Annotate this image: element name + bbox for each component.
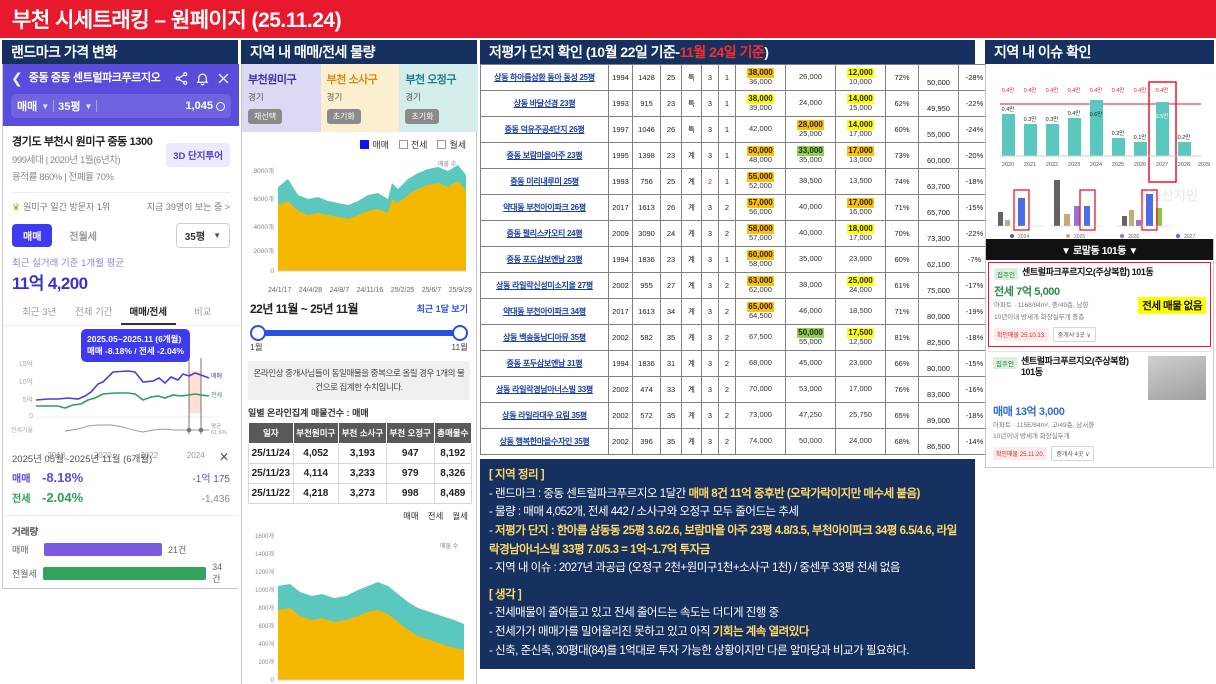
listing-name: 센트럴파크푸르지오(주상복합) 101동 xyxy=(1021,356,1139,379)
cell-year: 1993 xyxy=(609,169,633,195)
summary-buy-key: 매매 xyxy=(12,470,42,485)
cell-date: 25/11/22 xyxy=(249,484,294,504)
filter-size[interactable]: 35평 ▼ xyxy=(58,98,92,114)
svg-text:800개: 800개 xyxy=(258,604,274,612)
volume-bar xyxy=(43,567,206,580)
cell-type: 계 xyxy=(682,377,702,403)
svg-text:400개: 400개 xyxy=(258,640,274,648)
cell-c2: 1 xyxy=(719,91,736,117)
cell-type: 특 xyxy=(682,91,702,117)
svg-text:0: 0 xyxy=(29,413,33,420)
cell-price: 18,00017,000 xyxy=(836,221,886,247)
no-jeonse-overlay: 전세 매물 없음 xyxy=(1138,297,1206,314)
volume-value: 21건 xyxy=(168,543,186,556)
cell-sosa: 3,193 xyxy=(339,444,387,464)
cell-price: 50,000 xyxy=(786,429,836,455)
summary-jeonse-key: 전세 xyxy=(12,490,42,505)
svg-text:0.4만: 0.4만 xyxy=(1046,86,1059,94)
cell-units: 1836 xyxy=(633,351,661,377)
volume-label: 매매 xyxy=(12,543,38,556)
cell-price: 35,000 xyxy=(786,247,836,273)
cell-type: 계 xyxy=(682,429,702,455)
cell-year: 1994 xyxy=(609,65,633,91)
cell-complex-name[interactable]: 중동 미리내루미 25평 xyxy=(481,169,609,195)
summary-line-cheap: - 저평가 단지 : 한아름 삼동동 25평 3.6/2.6, 보람마을 아주 … xyxy=(489,522,966,559)
table-row: 상동 하아름삼환 동아 동성 25평1994142825특3138,00036,… xyxy=(481,65,991,91)
share-icon[interactable] xyxy=(174,71,189,86)
volume-area-chart-1: 8000개 6000개 4000개 2000개 0 매물 수 xyxy=(242,153,478,281)
svg-text:8000개: 8000개 xyxy=(254,166,274,175)
rank-label: 원미구 일간 방문자 1위 xyxy=(23,202,110,212)
cell-c1: 3 xyxy=(702,247,719,273)
cell-total: 8,489 xyxy=(434,484,471,504)
cell-price: 73,000 xyxy=(736,403,786,429)
svg-text:2024: 2024 xyxy=(1018,234,1029,240)
volume-row-buy: 매매 21건 xyxy=(3,540,239,559)
th-ojeong: 부천 오정구 xyxy=(386,423,434,444)
cell-rate: 60% xyxy=(886,247,919,273)
close-icon[interactable] xyxy=(216,71,231,86)
cell-price: 18,500 xyxy=(836,299,886,325)
gu-name: 부천 소사구 xyxy=(327,71,394,87)
cell-type: 계 xyxy=(682,221,702,247)
listing-thumbnail[interactable] xyxy=(1148,356,1206,400)
segment-buy[interactable]: 매매 xyxy=(12,224,52,247)
cell-c2: 2 xyxy=(719,429,736,455)
cell-total: 8,192 xyxy=(434,444,471,464)
viewers-label[interactable]: 지금 39명이 보는 중 > xyxy=(147,200,230,213)
cell-units: 572 xyxy=(633,403,661,429)
volume-label: 전월세 xyxy=(12,567,37,580)
table-row: 약대동 부천아이파크 26평2017161326계3257,00056,0004… xyxy=(481,195,991,221)
cell-c2: 1 xyxy=(719,117,736,143)
cell-price: 26,000 xyxy=(786,65,836,91)
cell-price: 60,00058,000 xyxy=(736,247,786,273)
cell-c1: 3 xyxy=(702,117,719,143)
cell-c1: 3 xyxy=(702,221,719,247)
landmark-app-card: ❮ 중동 중동 센트럴파크푸르지오 xyxy=(3,64,239,588)
cell-price: 12,00010,000 xyxy=(836,65,886,91)
cell-c2: 1 xyxy=(719,247,736,273)
cell-date: 25/11/24 xyxy=(249,444,294,464)
table-row: 상동 라일라대우 요림 35평200257235계3273,00047,2502… xyxy=(481,403,991,429)
cell-pyeong: 35 xyxy=(661,325,682,351)
cell-year: 2002 xyxy=(609,403,633,429)
listing-meta-2: 10년이내 방세개 화장실두개 xyxy=(993,432,1206,442)
legend-item-wolse[interactable]: 월세 xyxy=(437,138,466,151)
panel-volume-title: 지역 내 매매/전세 물량 xyxy=(241,40,477,64)
thought-line-3: - 신축, 준신축, 30평대(84)를 1억대로 투자 가능한 상황이지만 다… xyxy=(489,642,966,661)
svg-text:2028: 2028 xyxy=(1178,162,1190,168)
cell-rate: 73% xyxy=(886,143,919,169)
slider-knob-left[interactable] xyxy=(250,325,266,341)
cell-pyeong: 33 xyxy=(661,377,682,403)
legend-item-buy[interactable]: 매매 xyxy=(403,510,419,522)
cell-pyeong: 34 xyxy=(661,299,682,325)
volume-note: 온라인상 중개사님들이 동일매물을 중복으로 올릴 경우 1개의 물건으로 집계… xyxy=(248,361,470,400)
cell-year: 1994 xyxy=(609,351,633,377)
svg-text:1600개: 1600개 xyxy=(255,532,274,540)
cell-ojeong: 979 xyxy=(386,464,434,484)
cell-year: 2009 xyxy=(609,221,633,247)
cell-complex-name[interactable]: 상동 바달선경 23평 xyxy=(481,91,609,117)
cell-complex-name[interactable]: 중동 덕유주공4단지 26평 xyxy=(481,117,609,143)
cell-type: 계 xyxy=(682,273,702,299)
cell-price: 38,500 xyxy=(786,169,836,195)
cell-type: 계 xyxy=(682,325,702,351)
chart-tooltip: 2025.05~2025.11 (6개월) 매매 -8.18% / 전세 -2.… xyxy=(81,329,190,362)
cell-price: 28,00025,000 xyxy=(786,117,836,143)
3d-tour-button[interactable]: 3D 단지투어 xyxy=(166,143,230,167)
tab-compare[interactable]: 비교 xyxy=(176,299,231,325)
svg-text:2029: 2029 xyxy=(1198,162,1210,168)
cell-complex-name[interactable]: 약대동 부천아이파크 26평 xyxy=(481,195,609,221)
cell-year: 2017 xyxy=(609,195,633,221)
svg-text:0: 0 xyxy=(270,268,274,275)
cell-price: 40,000 xyxy=(786,221,836,247)
cell-type: 계 xyxy=(682,143,702,169)
cell-price: 14,00017,000 xyxy=(836,117,886,143)
cell-price: 38,000 xyxy=(786,273,836,299)
cell-price: 68,000 xyxy=(736,351,786,377)
summary-jeonse-amount: -1,436 xyxy=(202,494,230,505)
gu-name: 부천 오정구 xyxy=(405,71,472,87)
recent-month-link[interactable]: 최근 1달 보기 xyxy=(417,302,468,315)
cell-complex-name[interactable]: 상동 백송동남디아뮤 35평 xyxy=(481,325,609,351)
thought-line-2: - 전세가가 매매가를 밀어올리진 못하고 있고 아직 기회는 계속 열려있다 xyxy=(489,623,966,642)
cell-price: 70,000 xyxy=(736,377,786,403)
gu-tag-button[interactable]: 재선택 xyxy=(248,109,282,124)
cell-complex-name[interactable]: 상동 라일락신성미소지올 27평 xyxy=(481,273,609,299)
period-summary: 2025년 05월~2025년 11월 (6개월) ✕ 매매 -8.18% -1… xyxy=(3,444,239,509)
table-row: 상동 백송동남디아뮤 35평200258235계3267,50050,00055… xyxy=(481,325,991,351)
size-select[interactable]: 35평 ▼ xyxy=(176,223,230,248)
cell-units: 1428 xyxy=(633,65,661,91)
svg-text:2026: 2026 xyxy=(1128,234,1139,240)
owner-badge: 집주인 xyxy=(994,268,1018,280)
cell-price: 38,00039,000 xyxy=(736,91,786,117)
table-row: 중동 덕유주공4단지 26평1997104626특3142,00028,0002… xyxy=(481,117,991,143)
cell-c1: 3 xyxy=(702,299,719,325)
cell-c1: 3 xyxy=(702,403,719,429)
cell-type: 계 xyxy=(682,299,702,325)
gu-region: 경기 xyxy=(405,91,472,103)
back-arrow-icon[interactable]: ❮ xyxy=(11,70,23,87)
listing-meta-1: 아파트 · 115E/84m², 고/49층, 남서향 xyxy=(993,421,1206,431)
cell-year: 1997 xyxy=(609,117,633,143)
svg-text:2024: 2024 xyxy=(1090,162,1102,168)
cell-last-price: 89,000 xyxy=(919,403,959,429)
slider-track[interactable] xyxy=(258,330,460,336)
table-row: 25/11/22 4,218 3,273 998 8,489 xyxy=(249,484,472,504)
cell-price: 33,00035,000 xyxy=(786,143,836,169)
gu-tag-button[interactable]: 초기화 xyxy=(327,109,361,124)
divider xyxy=(53,100,54,112)
volume-row-rent: 전월세 34건 xyxy=(3,559,239,588)
cell-year: 2002 xyxy=(609,377,633,403)
summary-heading-thought: [ 생각 ] xyxy=(489,586,966,605)
gu-selector: 부천원미구 경기 재선택 부천 소사구 경기 초기화 부천 오정구 경기 초기화 xyxy=(242,64,478,132)
cell-c2: 2 xyxy=(719,403,736,429)
cell-last-price: 83,000 xyxy=(919,377,959,403)
panel-issue: 지역 내 이슈 확인 0.4만 xyxy=(985,40,1214,468)
cell-price: 23,000 xyxy=(836,247,886,273)
cell-price: 58,00057,000 xyxy=(736,221,786,247)
cell-last-price: 86,500 xyxy=(919,429,959,455)
cell-ojeong: 947 xyxy=(386,444,434,464)
cell-units: 1613 xyxy=(633,299,661,325)
cell-price: 50,00055,000 xyxy=(786,325,836,351)
cell-c1: 3 xyxy=(702,351,719,377)
volume-table-caption: 일별 온라인집계 매물건수 : 매매 xyxy=(242,404,476,422)
cell-complex-name[interactable]: 중동 펄리스카오티 24평 xyxy=(481,221,609,247)
summary-line-landmark: - 랜드마크 : 중동 센트럴파크푸르지오 1달간 매매 8건 11억 중후반 … xyxy=(489,485,966,504)
panel-cheap-title: 저평가 단지 확인 (10월 22일 기준-11월 24일 기준) xyxy=(480,40,975,64)
supply-chart: 0.4만 0.4만 0.4만 0.4만 0.4만 0.4만 0.4만 0.4만 … xyxy=(986,64,1215,239)
svg-text:2022: 2022 xyxy=(1046,162,1058,168)
cell-price: 47,250 xyxy=(786,403,836,429)
cell-units: 1613 xyxy=(633,195,661,221)
listing-card-jeonse[interactable]: 집주인 센트럴파크푸르지오(주상복합) 101동 전세 7억 5,000 아파트… xyxy=(988,262,1211,347)
thought-line-1: - 전세매물이 줄어들고 있고 전세 줄어드는 속도는 더디게 진행 중 xyxy=(489,604,966,623)
cell-units: 396 xyxy=(633,429,661,455)
cell-complex-name[interactable]: 상동 하아름삼환 동아 동성 25평 xyxy=(481,65,609,91)
svg-text:0.2만: 0.2만 xyxy=(1112,129,1125,137)
cell-last-price: 73,300 xyxy=(919,221,959,247)
cell-c2: 2 xyxy=(719,195,736,221)
cell-price: 40,000 xyxy=(786,195,836,221)
table-header-row: 일자 부천원미구 부천 소사구 부천 오정구 총매물수 xyxy=(249,423,472,444)
cell-rate: 71% xyxy=(886,195,919,221)
close-icon[interactable]: ✕ xyxy=(219,450,229,464)
divider xyxy=(96,100,97,112)
table-row: 상동 바달선경 23평199391523특3138,00039,00024,00… xyxy=(481,91,991,117)
cell-pyeong: 31 xyxy=(661,351,682,377)
cell-year: 1994 xyxy=(609,247,633,273)
panel-issue-title: 지역 내 이슈 확인 xyxy=(985,40,1214,64)
summary-heading-region: [ 지역 정리 ] xyxy=(489,466,966,485)
tab-all-period[interactable]: 전체 기간 xyxy=(67,299,122,325)
volume-bar xyxy=(44,543,162,556)
cell-year: 2002 xyxy=(609,325,633,351)
cell-rate: 65% xyxy=(886,403,919,429)
cell-price: 53,000 xyxy=(786,377,836,403)
cell-complex-name[interactable]: 상동 라일라대우 요림 35평 xyxy=(481,403,609,429)
app-header: ❮ 중동 중동 센트럴파크푸르지오 xyxy=(3,64,239,126)
owner-badge: 집주인 xyxy=(993,357,1017,369)
gu-name: 부천원미구 xyxy=(248,71,315,87)
cell-units: 582 xyxy=(633,325,661,351)
summary-buy-amount: -1억 175 xyxy=(192,470,230,485)
cell-type: 특 xyxy=(682,117,702,143)
cell-last-price: 49,950 xyxy=(919,91,959,117)
cell-ojeong: 998 xyxy=(386,484,434,504)
cell-price: 25,750 xyxy=(836,403,886,429)
summary-jeonse-pct: -2.04% xyxy=(42,490,83,505)
cell-year: 1995 xyxy=(609,143,633,169)
svg-text:10억: 10억 xyxy=(19,378,33,386)
supply-chart-svg: 0.4만 0.4만 0.4만 0.4만 0.4만 0.4만 0.4만 0.4만 … xyxy=(986,68,1215,240)
cell-complex-name[interactable]: 상동 라일락경남아너스빌 33평 xyxy=(481,377,609,403)
svg-text:0.1만: 0.1만 xyxy=(1134,133,1147,141)
cell-c2: 2 xyxy=(719,273,736,299)
tab-recent-3y[interactable]: 최근 3년 xyxy=(12,299,67,325)
divider xyxy=(12,192,230,193)
cell-pyeong: 23 xyxy=(661,247,682,273)
cell-wonmi: 4,218 xyxy=(293,484,338,504)
volume-area-chart-2: 1600개 1400개 1200개 1000개 800개 600개 400개 2… xyxy=(242,524,478,684)
cell-complex-name[interactable]: 상동 행복한마을수자인 35평 xyxy=(481,429,609,455)
th-wonmi: 부천원미구 xyxy=(293,423,338,444)
segment-rent[interactable]: 전월세 xyxy=(58,224,108,247)
summary-box: [ 지역 정리 ] - 랜드마크 : 중동 센트럴파크푸르지오 1달간 매매 8… xyxy=(480,459,975,669)
svg-text:5억: 5억 xyxy=(23,396,33,404)
legend-item-wolse[interactable]: 월세 xyxy=(452,510,468,522)
cell-pyeong: 26 xyxy=(661,117,682,143)
svg-text:1400개: 1400개 xyxy=(255,550,274,558)
cell-price: 63,00062,000 xyxy=(736,273,786,299)
cell-price: 67,500 xyxy=(736,325,786,351)
table-row: 중동 보람마을아주 23평1995139823계3150,00048,00033… xyxy=(481,143,991,169)
cell-rate: 68% xyxy=(886,429,919,455)
cell-type: 계 xyxy=(682,169,702,195)
table-row: 약대동 부천아이파크 34평2017161334계3265,00064,5004… xyxy=(481,299,991,325)
cell-last-price: 50,000 xyxy=(919,65,959,91)
crown-icon: ♛ xyxy=(12,202,20,212)
svg-text:0.4만: 0.4만 xyxy=(1068,86,1081,94)
avg-label: 최근 실거래 기준 1개월 평균 xyxy=(3,250,239,269)
summary-buy-pct: -8.18% xyxy=(42,470,83,485)
cell-total: 8,326 xyxy=(434,464,471,484)
legend-item-jeonse[interactable]: 전세 xyxy=(428,510,444,522)
svg-text:200개: 200개 xyxy=(258,658,274,666)
cell-last-price: 62,100 xyxy=(919,247,959,273)
complex-ratio: 용적률 860% | 전폐율 70% xyxy=(12,169,230,183)
cell-c2: 2 xyxy=(719,377,736,403)
table-row: 중동 포두삼보엔남 31평1994183631계3268,00045,00023… xyxy=(481,351,991,377)
cell-rate: 74% xyxy=(886,169,919,195)
cell-price: 17,000 xyxy=(836,377,886,403)
bell-icon[interactable] xyxy=(195,71,210,86)
slider-knob-right[interactable] xyxy=(452,325,468,341)
confirm-badge: 확인매물 25.11.20. xyxy=(993,447,1047,460)
agent-count-button[interactable]: 중개사 4곳 ∨ xyxy=(1051,446,1094,461)
cell-rate: 70% xyxy=(886,221,919,247)
page-title: 부천 시세트래킹 – 원페이지 (25.11.24) xyxy=(0,0,1216,38)
svg-text:2023: 2023 xyxy=(1068,162,1080,168)
cell-complex-name[interactable]: 중동 포두삼보엔남 31평 xyxy=(481,351,609,377)
svg-text:0.4만: 0.4만 xyxy=(1112,86,1125,94)
cell-pyeong: 26 xyxy=(661,195,682,221)
volume-table: 일자 부천원미구 부천 소사구 부천 오정구 총매물수 25/11/24 4,0… xyxy=(248,422,472,504)
svg-text:매물 수: 매물 수 xyxy=(440,542,459,550)
cell-sosa: 3,233 xyxy=(339,464,387,484)
cell-type: 계 xyxy=(682,195,702,221)
cell-date: 25/11/23 xyxy=(249,464,294,484)
cell-complex-name[interactable]: 중동 포도삼보엔남 23평 xyxy=(481,247,609,273)
app-complex-title: 중동 중동 센트럴파크푸르지오 xyxy=(29,72,168,85)
cell-wonmi: 4,114 xyxy=(293,464,338,484)
cell-pyeong: 25 xyxy=(661,65,682,91)
filter-deal-type[interactable]: 매매 ▼ xyxy=(17,98,49,114)
gu-card-wonmi[interactable]: 부천원미구 경기 재선택 xyxy=(242,64,321,132)
cell-rate: 61% xyxy=(886,273,919,299)
complex-info: 경기도 부천시 원미구 중동 1300 999세대 | 2020년 1월(6년차… xyxy=(3,126,239,189)
cell-price: 14,00015,000 xyxy=(836,91,886,117)
cell-price: 24,000 xyxy=(786,91,836,117)
chevron-down-icon: ▼ xyxy=(41,102,49,111)
cell-last-price: 65,700 xyxy=(919,195,959,221)
cell-price: 46,000 xyxy=(786,299,836,325)
rank-row: ♛원미구 일간 방문자 1위 지금 39명이 보는 중 > xyxy=(3,196,239,217)
legend-item-jeonse[interactable]: 전세 xyxy=(399,138,428,151)
svg-text:2020: 2020 xyxy=(1002,162,1014,168)
app-filter-bar[interactable]: 매매 ▼ 35평 ▼ 1,045 xyxy=(11,94,231,118)
cell-c1: 3 xyxy=(702,65,719,91)
listing-name: 센트럴파크푸르지오(주상복합) 101동 xyxy=(1022,267,1153,278)
cell-complex-name[interactable]: 중동 보람마을아주 23평 xyxy=(481,143,609,169)
cell-rate: 60% xyxy=(886,117,919,143)
cell-price: 17,00013,000 xyxy=(836,143,886,169)
cell-type: 계 xyxy=(682,247,702,273)
chart1-x-axis: 24/1/1724/4/2824/8/7 24/11/1625/2/2525/6… xyxy=(242,286,476,294)
cell-rate: 62% xyxy=(886,91,919,117)
cell-last-price: 80,000 xyxy=(919,299,959,325)
svg-text:0.3만: 0.3만 xyxy=(1046,115,1059,123)
svg-text:0.4만: 0.4만 xyxy=(1002,86,1015,94)
cell-price: 23,000 xyxy=(836,351,886,377)
range-slider[interactable] xyxy=(258,327,460,339)
table-row: 중동 미리내루미 25평199375625계2155,00052,00038,5… xyxy=(481,169,991,195)
gu-tag-button[interactable]: 초기화 xyxy=(405,109,439,124)
svg-text:6000개: 6000개 xyxy=(254,194,274,203)
cell-c2: 2 xyxy=(719,325,736,351)
cell-type: 계 xyxy=(682,403,702,429)
svg-text:2000개: 2000개 xyxy=(254,246,274,255)
cell-pyeong: 24 xyxy=(661,221,682,247)
price-history-chart: 2025.05~2025.11 (6개월) 매매 -8.18% / 전세 -2.… xyxy=(3,326,239,444)
tab-buy-jeonse[interactable]: 매매/전세 xyxy=(121,299,176,325)
gu-card-sosa[interactable]: 부천 소사구 경기 초기화 xyxy=(321,64,400,132)
agent-count-button[interactable]: 중개사 3곳 ∨ xyxy=(1053,327,1096,342)
cell-last-price: 75,000 xyxy=(919,273,959,299)
table-row: 25/11/24 4,052 3,193 947 8,192 xyxy=(249,444,472,464)
cell-year: 2002 xyxy=(609,273,633,299)
svg-text:2025: 2025 xyxy=(1112,162,1124,168)
cell-rate: 76% xyxy=(886,377,919,403)
cell-type: 특 xyxy=(682,65,702,91)
cell-price: 24,000 xyxy=(836,429,886,455)
circle-icon xyxy=(216,102,225,111)
cell-last-price: 55,000 xyxy=(919,117,959,143)
cell-c1: 3 xyxy=(702,143,719,169)
listing-card-sale[interactable]: 집주인 센트럴파크푸르지오(주상복합) 101동 매매 13억 3,000 아파… xyxy=(988,351,1211,466)
cell-last-price: 63,700 xyxy=(919,169,959,195)
listing-count: 1,045 xyxy=(185,100,225,112)
transaction-volume-title: 거래량 xyxy=(3,515,239,540)
cell-complex-name[interactable]: 약대동 부천아이파크 34평 xyxy=(481,299,609,325)
svg-text:매물 수: 매물 수 xyxy=(438,160,457,168)
chevron-down-icon: ▼ xyxy=(85,102,93,111)
legend-item-buy[interactable]: 매매 xyxy=(360,138,389,151)
gu-card-ojeong[interactable]: 부천 오정구 경기 초기화 xyxy=(399,64,478,132)
cell-c1: 2 xyxy=(702,169,719,195)
svg-text:평균: 평균 xyxy=(211,423,221,430)
cell-price: 17,00016,000 xyxy=(836,195,886,221)
cell-units: 1398 xyxy=(633,143,661,169)
svg-text:15억: 15억 xyxy=(19,360,33,368)
cell-rate: 72% xyxy=(886,65,919,91)
